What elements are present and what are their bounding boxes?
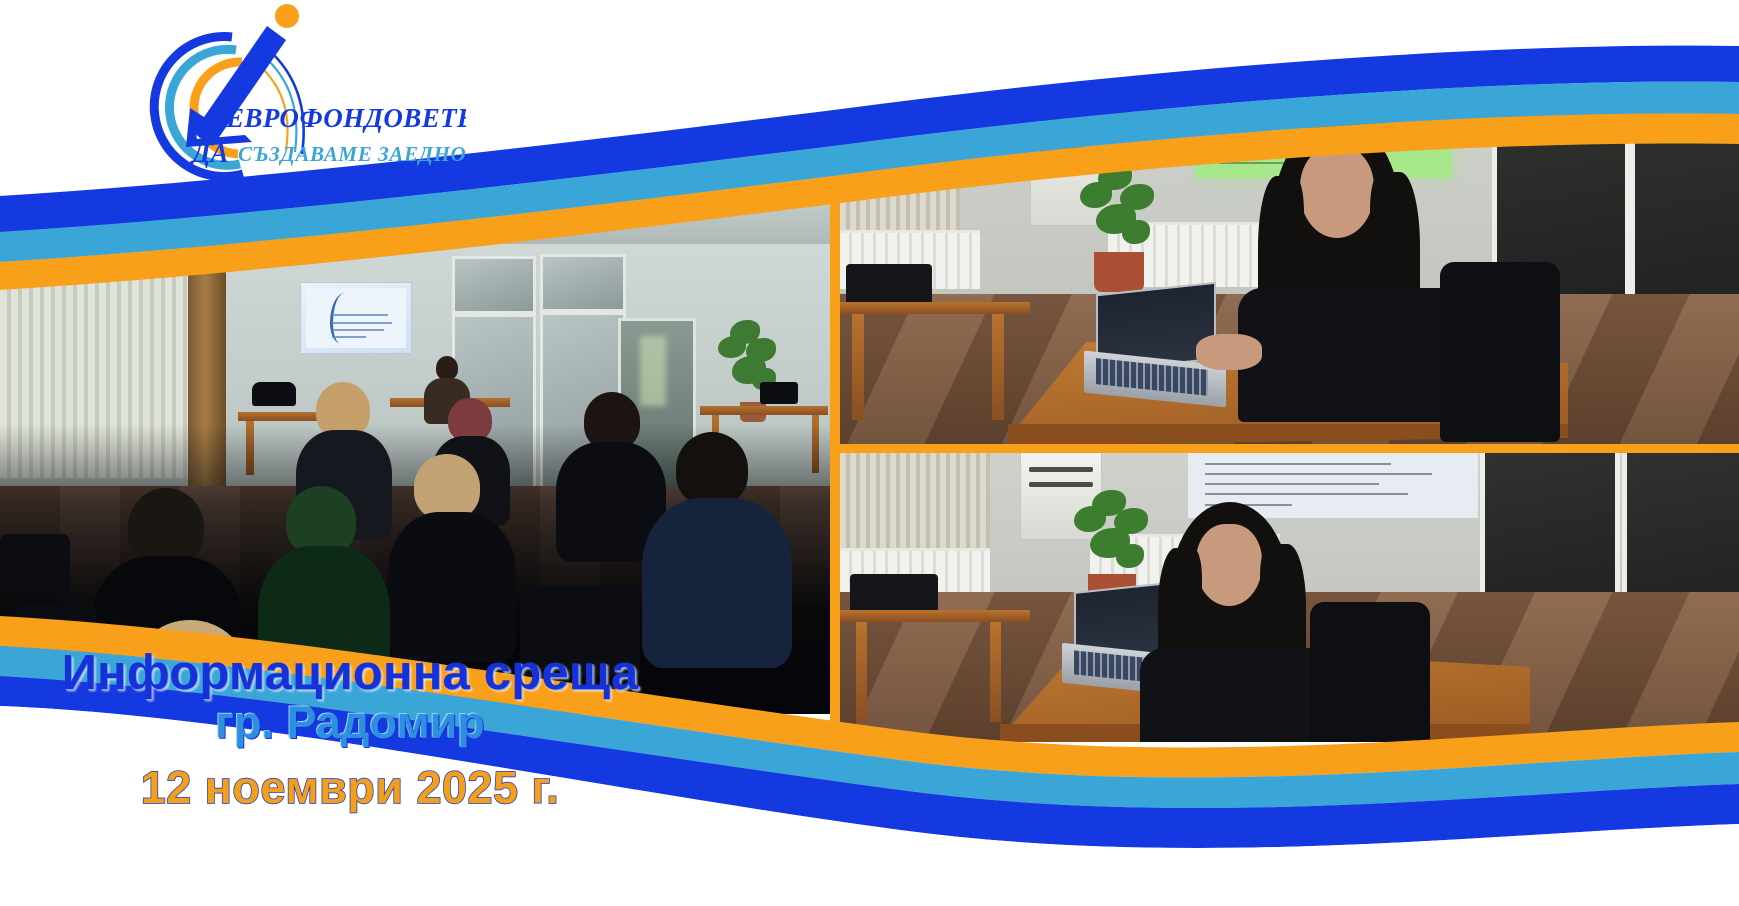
logo-wordmark-line1: ЕВРОФОНДОВЕТЕ	[225, 103, 466, 133]
collage-frame-vertical	[830, 120, 840, 742]
logo-wordmark-da: ДА	[189, 138, 228, 168]
caption-date: 12 ноември 2025 г.	[0, 762, 700, 814]
photo-audience-meeting-room	[0, 186, 838, 714]
collage-frame-middle	[830, 444, 1739, 453]
photo-presenter-green-slide	[840, 112, 1739, 444]
event-caption: Информационна среща гр. Радомир 12 ноемв…	[0, 648, 700, 814]
event-banner: ЕВРОФОНДОВЕТЕ ДА СЪЗДАВАМЕ ЗАЕДНО Информ…	[0, 0, 1739, 906]
caption-title: Информационна среща	[0, 648, 700, 699]
photo-presenter-white-slide	[840, 452, 1739, 742]
logo-dot-icon	[275, 4, 299, 28]
projection-screen-left	[300, 282, 412, 354]
caption-city: гр. Радомир	[0, 699, 700, 748]
evrofondovete-logo: ЕВРОФОНДОВЕТЕ ДА СЪЗДАВАМЕ ЗАЕДНО	[86, 4, 466, 186]
logo-wordmark-line2: СЪЗДАВАМЕ ЗАЕДНО	[238, 142, 466, 166]
collage-frame-top	[830, 112, 1739, 121]
